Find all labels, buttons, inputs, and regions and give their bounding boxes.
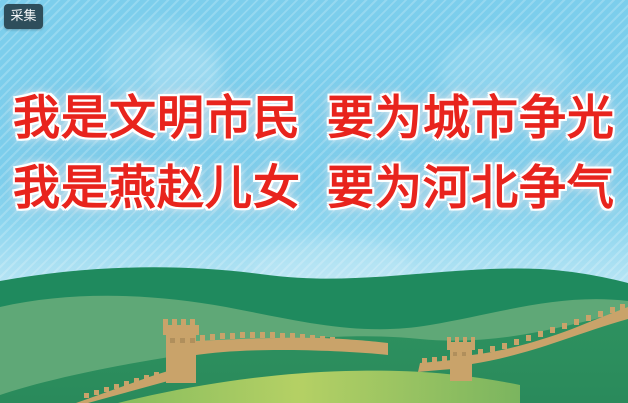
slogan-line-2-left: 我是燕赵儿女 — [13, 160, 301, 218]
slogan-line-1-right: 要为城市争光 — [327, 90, 615, 148]
banner-stage: 我是文明市民 要为城市争光 我是燕赵儿女 要为河北争气 采集 — [0, 0, 628, 403]
slogan-line-1: 我是文明市民 要为城市争光 — [13, 90, 615, 148]
slogan-line-2: 我是燕赵儿女 要为河北争气 — [13, 160, 615, 218]
slogan-block: 我是文明市民 要为城市争光 我是燕赵儿女 要为河北争气 — [0, 90, 628, 218]
slogan-line-1-left: 我是文明市民 — [13, 90, 301, 148]
capture-button[interactable]: 采集 — [4, 4, 43, 29]
slogan-line-2-right: 要为河北争气 — [327, 160, 615, 218]
landscape-illustration — [0, 263, 628, 403]
